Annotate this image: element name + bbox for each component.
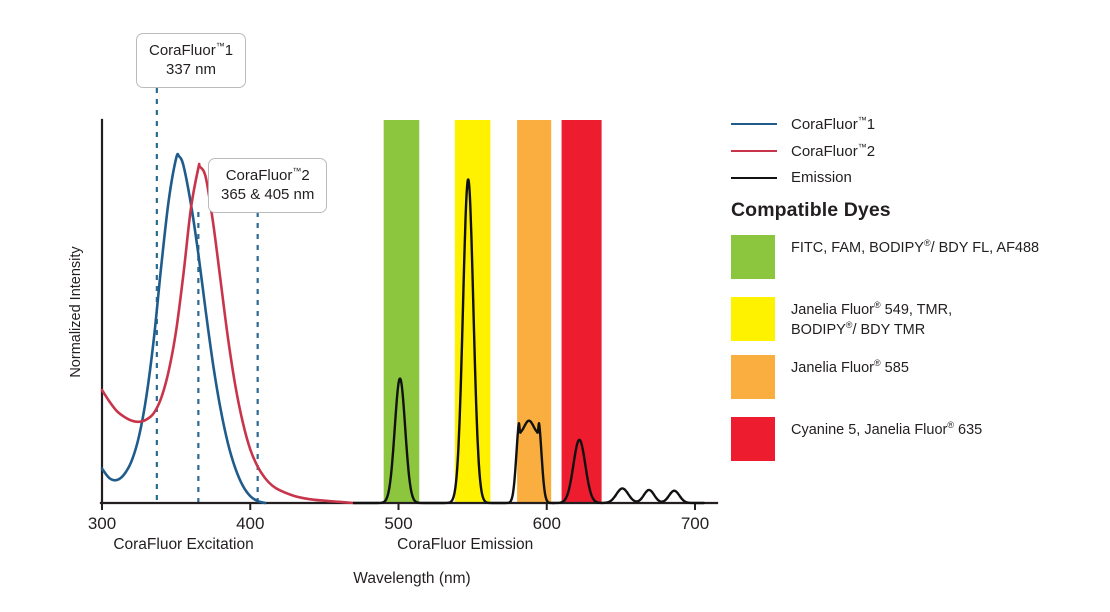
callout-line2: 365 & 405 nm [221, 185, 314, 204]
registered-icon: ® [924, 238, 931, 248]
legend-line-swatch [731, 177, 777, 179]
callout-line1-text: CoraFluor [226, 167, 293, 184]
dye-color-swatch [731, 417, 775, 461]
dye-color-swatch [731, 297, 775, 341]
dye-label: Cyanine 5, Janelia Fluor® 635 [791, 417, 982, 440]
dye-label-line1: Janelia Fluor® 585 [791, 358, 909, 378]
legend-item-2: CoraFluor™2 [731, 137, 1101, 164]
compatible-dyes-title: Compatible Dyes [731, 199, 891, 222]
registered-icon: ® [874, 300, 881, 310]
compatible-dyes-list: FITC, FAM, BODIPY®/ BDY FL, AF488Janelia… [731, 235, 1106, 475]
legend-item-label: Emission [791, 169, 852, 186]
dye-label-text: Cyanine 5, Janelia Fluor [791, 422, 947, 438]
dye-label-suffix: 549, TMR, [881, 302, 952, 318]
legend-line-swatch [731, 123, 777, 125]
dye-label: Janelia Fluor® 585 [791, 355, 909, 378]
dye-label-suffix: / BDY FL, AF488 [931, 240, 1040, 256]
bands-group [384, 120, 602, 503]
legend-item-1: CoraFluor™1 [731, 110, 1101, 137]
x-tick-label-700: 700 [681, 514, 709, 533]
region-label: CoraFluor Emission [397, 536, 533, 553]
dashed-marker-lines [157, 88, 258, 503]
callout-line2: 337 nm [149, 60, 233, 79]
legend-label-suffix: 1 [867, 116, 875, 133]
dye-label-line1: Janelia Fluor® 549, TMR, [791, 300, 952, 320]
dye-color-swatch [731, 355, 775, 399]
x-tick-label-300: 300 [88, 514, 116, 533]
dye-label-text: Janelia Fluor [791, 302, 874, 318]
registered-icon: ® [874, 358, 881, 368]
dye-label-line1: FITC, FAM, BODIPY®/ BDY FL, AF488 [791, 238, 1039, 258]
green-band [384, 120, 420, 503]
legend-item-3: Emission [731, 164, 1101, 191]
dye-label-line1: Cyanine 5, Janelia Fluor® 635 [791, 420, 982, 440]
dye-label: FITC, FAM, BODIPY®/ BDY FL, AF488 [791, 235, 1039, 258]
callout-corafluor2: CoraFluor™2 365 & 405 nm [208, 158, 327, 213]
dye-color-swatch [731, 235, 775, 279]
dye-item-2: Janelia Fluor® 549, TMR,BODIPY®/ BDY TMR [731, 297, 1106, 341]
trademark-icon: ™ [216, 41, 225, 51]
dye-label-text: FITC, FAM, BODIPY [791, 240, 924, 256]
dye-label-line2: BODIPY®/ BDY TMR [791, 320, 952, 340]
dye-item-1: FITC, FAM, BODIPY®/ BDY FL, AF488 [731, 235, 1106, 279]
legend-item-label: CoraFluor™2 [791, 142, 875, 160]
series-legend: CoraFluor™1CoraFluor™2Emission [731, 110, 1101, 191]
x-tick-label-600: 600 [533, 514, 561, 533]
legend-item-label: CoraFluor™1 [791, 115, 875, 133]
dye-label: Janelia Fluor® 549, TMR,BODIPY®/ BDY TMR [791, 297, 952, 340]
orange-band [517, 120, 551, 503]
y-axis-title: Normalized Intensity [68, 246, 84, 378]
callout-line1-text: CoraFluor [149, 42, 216, 59]
trademark-icon: ™ [858, 115, 867, 125]
callout-line1-suffix: 1 [225, 42, 233, 59]
x-tick-label-500: 500 [384, 514, 412, 533]
region-label: CoraFluor Excitation [113, 536, 253, 553]
x-axis-title: Wavelength (nm) [353, 570, 470, 587]
dye-label-text: BODIPY [791, 322, 846, 338]
trademark-icon: ™ [858, 142, 867, 152]
axis-tick-labels: 300400500600700 [88, 514, 709, 533]
legend-label-text: CoraFluor [791, 143, 858, 160]
dye-label-suffix: 585 [881, 360, 909, 376]
dye-label-text: Janelia Fluor [791, 360, 874, 376]
dye-item-3: Janelia Fluor® 585 [731, 355, 1106, 399]
legend-label-suffix: 2 [867, 143, 875, 160]
dye-label-suffix: / BDY TMR [852, 322, 925, 338]
curve-corafluor2 [102, 164, 354, 503]
legend-label-text: CoraFluor [791, 116, 858, 133]
dye-label-suffix: 635 [954, 422, 982, 438]
dye-item-4: Cyanine 5, Janelia Fluor® 635 [731, 417, 1106, 461]
legend-label-text: Emission [791, 169, 852, 186]
callout-line1: CoraFluor™1 [149, 41, 233, 60]
x-tick-label-400: 400 [236, 514, 264, 533]
callout-corafluor1: CoraFluor™1 337 nm [136, 33, 246, 88]
callout-line1-suffix: 2 [301, 167, 309, 184]
callout-line1: CoraFluor™2 [221, 166, 314, 185]
legend-line-swatch [731, 150, 777, 152]
